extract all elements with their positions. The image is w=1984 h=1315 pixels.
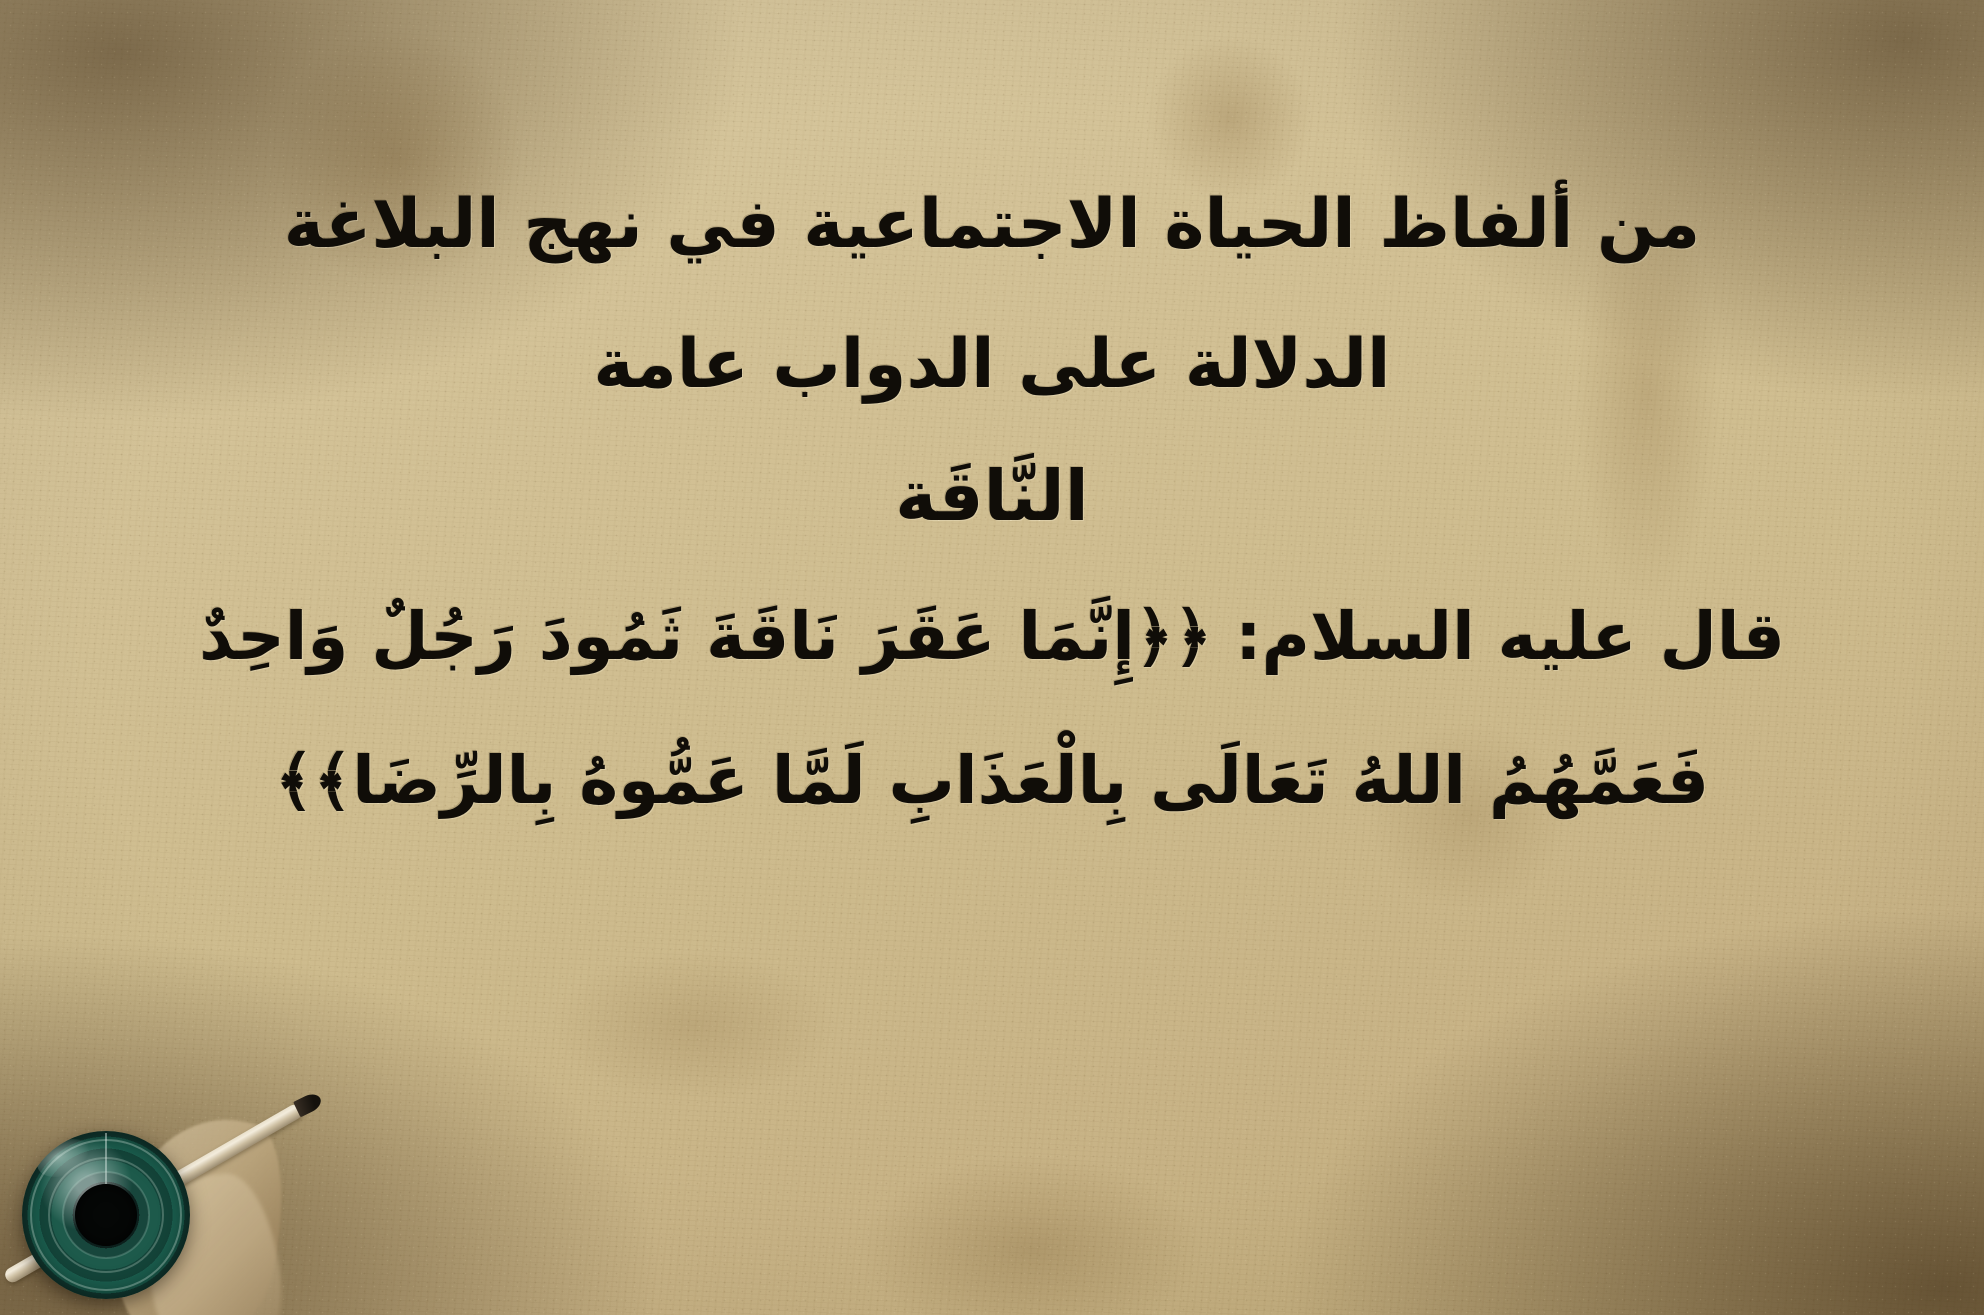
quote-line-2: فَعَمَّهُمُ اللهُ تَعَالَى بِالْعَذَابِ … — [0, 742, 1984, 820]
title-line-1: من ألفاظ الحياة الاجتماعية في نهج البلاغ… — [0, 185, 1984, 265]
slide-canvas: من ألفاظ الحياة الاجتماعية في نهج البلاغ… — [0, 0, 1984, 1315]
quote-line-1: قال عليه السلام: ﴿﴿إِنَّمَا عَقَرَ نَاقَ… — [0, 598, 1984, 676]
slide-content: من ألفاظ الحياة الاجتماعية في نهج البلاغ… — [0, 0, 1984, 1315]
title-line-2: الدلالة على الدواب عامة — [0, 325, 1984, 405]
title-line-3-keyword: النَّاقَة — [0, 455, 1984, 538]
